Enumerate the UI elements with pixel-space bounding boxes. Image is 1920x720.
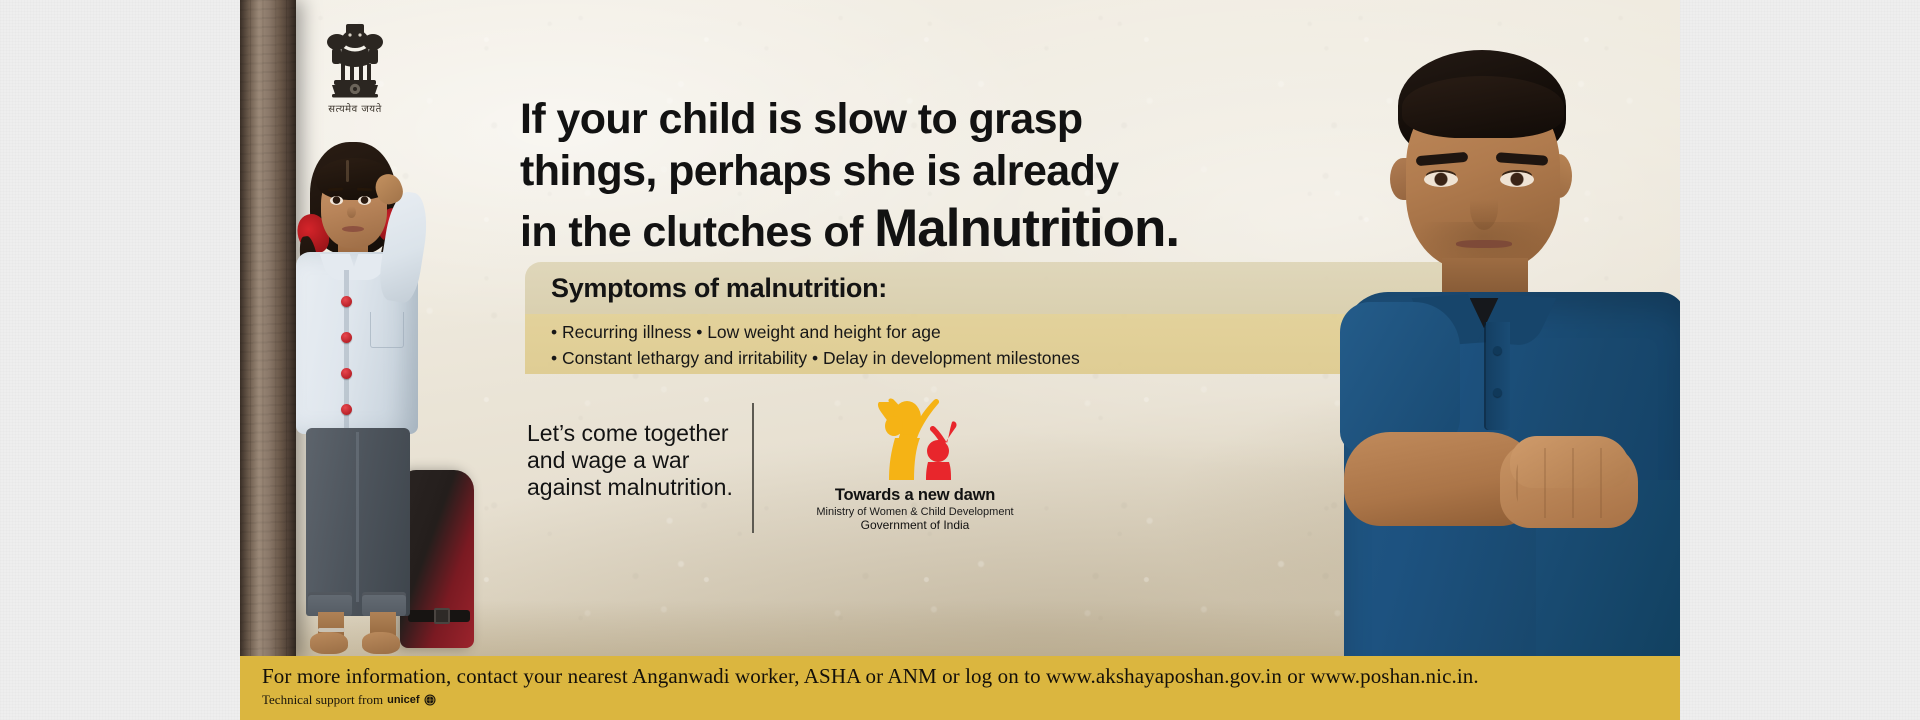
girl-shirt-pocket: [370, 312, 404, 348]
tagline: Let’s come together and wage a war again…: [527, 420, 733, 501]
headline: If your child is slow to grasp things, p…: [520, 98, 1220, 255]
tagline-line-2: and wage a war: [527, 447, 733, 474]
tagline-line-1: Let’s come together: [527, 420, 733, 447]
ministry-department: Ministry of Women & Child Development: [800, 506, 1030, 518]
girl-shirt-button: [341, 404, 352, 415]
logo-child-figure: [926, 421, 957, 480]
man-eye-left: [1424, 172, 1458, 187]
girl-trouser-seam: [356, 432, 359, 602]
man-mouth: [1456, 240, 1512, 248]
man-shirt-button: [1493, 388, 1502, 397]
man-rolled-sleeve: [1340, 302, 1460, 452]
girl-shirt-button: [341, 296, 352, 307]
photo-man-spokesperson: [1350, 50, 1680, 670]
mother-and-child-logo-icon: [856, 398, 974, 484]
footer-bar: For more information, contact your neare…: [240, 656, 1680, 720]
footer-contact-text: For more information, contact your neare…: [262, 664, 1680, 689]
headline-line-3-prefix: in the clutches of: [520, 208, 874, 256]
emblem-motto: सत्यमेव जयते: [300, 101, 410, 115]
ministry-slogan: Towards a new dawn: [800, 486, 1030, 505]
ministry-logo-block: Towards a new dawn Ministry of Women & C…: [800, 398, 1030, 532]
girl-nose: [347, 206, 356, 218]
poster: सत्यमेव जयते: [240, 0, 1680, 720]
symptoms-row-1: • Recurring illness • Low weight and hei…: [551, 320, 1470, 346]
man-shirt-button: [1493, 346, 1502, 355]
man-hair-front: [1402, 76, 1564, 138]
girl-mouth: [342, 226, 364, 232]
vertical-divider: [752, 403, 754, 533]
symptoms-panel-header: Symptoms of malnutrition:: [525, 262, 1470, 314]
footer-support-prefix: Technical support from: [262, 692, 383, 708]
symptoms-title: Symptoms of malnutrition:: [551, 273, 887, 304]
tagline-line-3: against malnutrition.: [527, 474, 733, 501]
ministry-government: Government of India: [800, 518, 1030, 532]
page-background: सत्यमेव जयते: [0, 0, 1920, 720]
girl-bare-foot-left: [310, 632, 348, 654]
girl-eye-left: [330, 196, 343, 205]
man-fingers: [1516, 448, 1628, 518]
symptoms-panel-body: • Recurring illness • Low weight and hei…: [525, 314, 1470, 374]
headline-emphasis-malnutrition: Malnutrition.: [874, 199, 1179, 258]
girl-bare-foot-right: [362, 632, 400, 654]
headline-line-2: things, perhaps she is already: [520, 150, 1220, 193]
ashoka-lion-capital-icon: [318, 20, 392, 98]
national-emblem: सत्यमेव जयते: [300, 20, 410, 115]
man-nose: [1470, 186, 1498, 230]
headline-line-1: If your child is slow to grasp: [520, 98, 1220, 141]
symptoms-row-2: • Constant lethargy and irritability • D…: [551, 346, 1470, 372]
girl-backpack-buckle: [434, 608, 450, 624]
man-shirt-placket: [1486, 322, 1510, 430]
headline-line-3: in the clutches of Malnutrition.: [520, 202, 1220, 255]
photo-schoolgirl: [258, 140, 448, 660]
girl-shirt-button: [341, 332, 352, 343]
girl-eye-right: [358, 196, 371, 205]
footer-support-line: Technical support from unicef: [262, 692, 1680, 708]
girl-shirt-button: [341, 368, 352, 379]
unicef-emblem-icon: [424, 694, 436, 706]
man-eye-right: [1500, 172, 1534, 187]
symptoms-panel: Symptoms of malnutrition: • Recurring il…: [525, 262, 1470, 374]
unicef-wordmark: unicef: [387, 694, 419, 706]
girl-hair-parting: [346, 160, 349, 182]
